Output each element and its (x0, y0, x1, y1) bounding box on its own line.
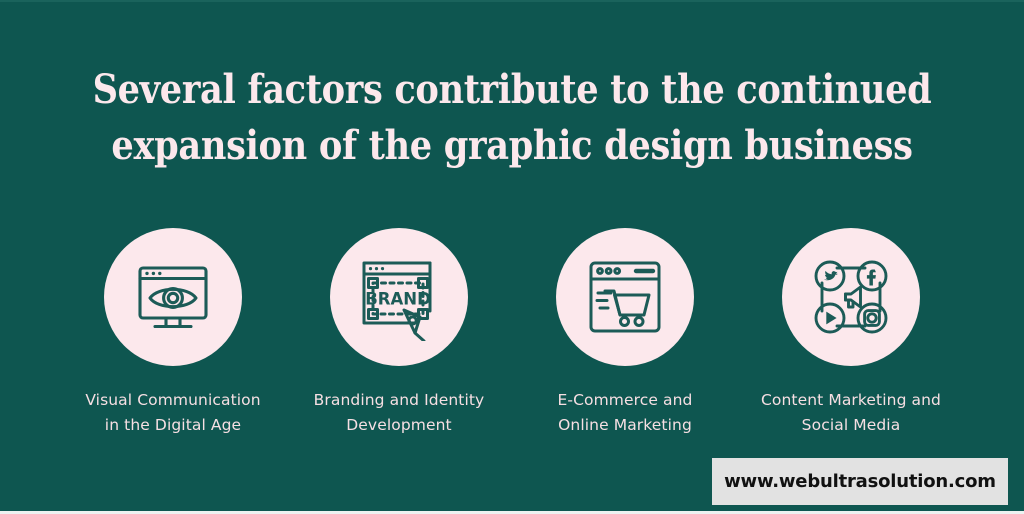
monitor-eye-icon (130, 254, 216, 340)
label-line-2: in the Digital Age (105, 416, 241, 434)
social-media-network-icon (808, 254, 894, 340)
brand-icon-text: BRAND (365, 290, 431, 309)
factor-card-label: Branding and Identity Development (289, 388, 509, 438)
label-line-1: E-Commerce and (557, 391, 692, 409)
factor-card-row: Visual Communication in the Digital Age (0, 228, 1024, 438)
label-line-1: Visual Communication (85, 391, 260, 409)
factor-card-label: Visual Communication in the Digital Age (63, 388, 283, 438)
factor-card-visual-communication: Visual Communication in the Digital Age (60, 228, 286, 438)
label-line-1: Branding and Identity (314, 391, 485, 409)
label-line-2: Online Marketing (558, 416, 692, 434)
page-title: Several factors contribute to the contin… (0, 62, 1024, 174)
icon-badge-ecommerce (556, 228, 694, 366)
label-line-2: Social Media (802, 416, 901, 434)
factor-card-social-media: Content Marketing and Social Media (738, 228, 964, 438)
website-url-banner[interactable]: www.webultrasolution.com (712, 458, 1008, 505)
top-divider (0, 0, 1024, 2)
website-url-text: www.webultrasolution.com (724, 471, 996, 492)
shopping-cart-browser-icon (583, 255, 667, 339)
title-line-1: Several factors contribute to the contin… (61, 62, 962, 118)
factor-card-ecommerce: E-Commerce and Online Marketing (512, 228, 738, 438)
factor-card-label: Content Marketing and Social Media (741, 388, 961, 438)
icon-badge-social-media (782, 228, 920, 366)
brand-pen-tool-icon: BRAND (354, 253, 444, 341)
title-line-2: expansion of the graphic design business (61, 118, 962, 174)
factor-card-label: E-Commerce and Online Marketing (515, 388, 735, 438)
label-line-2: Development (346, 416, 451, 434)
label-line-1: Content Marketing and (761, 391, 941, 409)
icon-badge-visual-communication (104, 228, 242, 366)
poster-canvas: Several factors contribute to the contin… (0, 0, 1024, 514)
icon-badge-branding: BRAND (330, 228, 468, 366)
factor-card-branding: BRAND Branding and Identity Development (286, 228, 512, 438)
